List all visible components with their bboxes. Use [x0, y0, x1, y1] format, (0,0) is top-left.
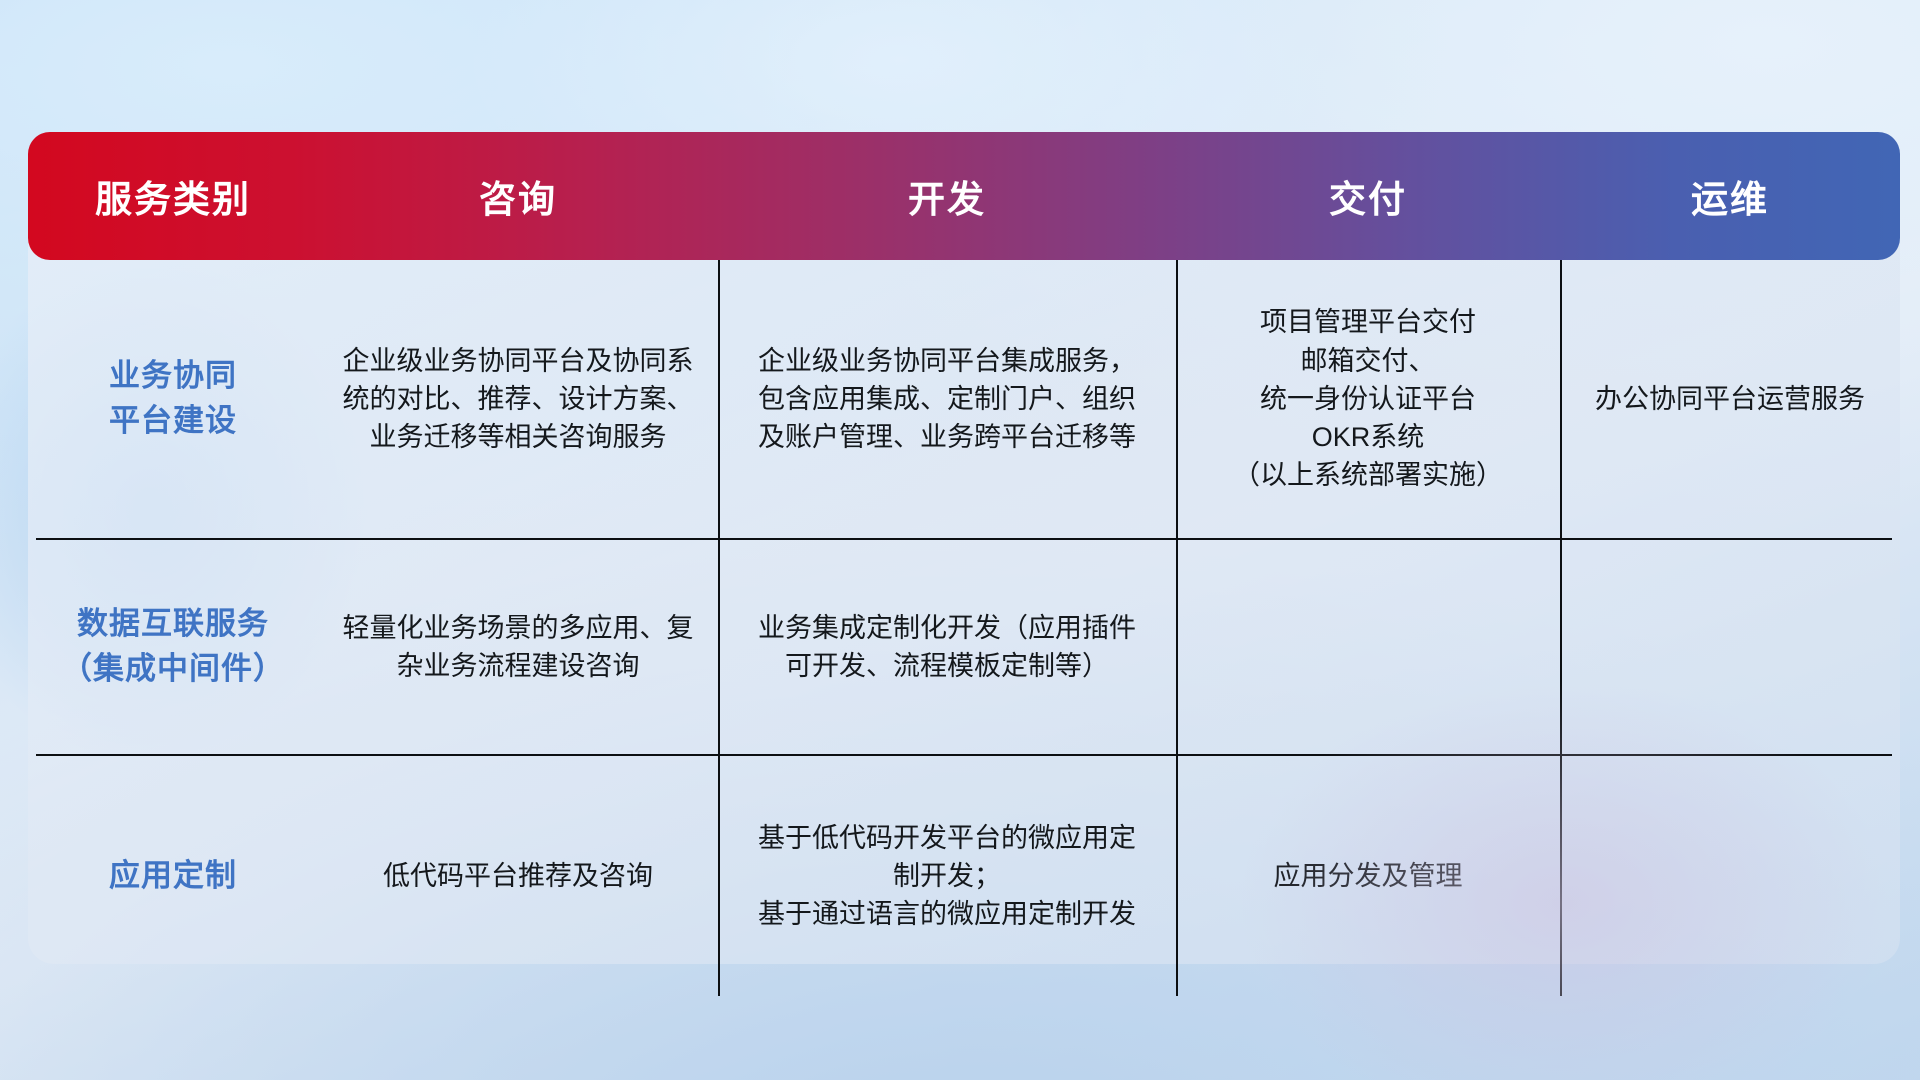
cell-development-row-3: 基于低代码开发平台的微应用定 制开发； 基于通过语言的微应用定制开发	[718, 756, 1176, 996]
row-label-data-interconnect: 数据互联服务 （集成中间件）	[28, 540, 318, 754]
table-row: 应用定制 低代码平台推荐及咨询 基于低代码开发平台的微应用定 制开发； 基于通过…	[28, 756, 1900, 996]
cell-operations-row-1: 办公协同平台运营服务	[1560, 260, 1900, 538]
slide-canvas: 服务类别 咨询 开发 交付 运维 业务协同 平台建设 企业级业务协同平台及协同系…	[0, 0, 1920, 1080]
table-row: 数据互联服务 （集成中间件） 轻量化业务场景的多应用、复 杂业务流程建设咨询 业…	[28, 540, 1900, 754]
cell-consulting-row-2: 轻量化业务场景的多应用、复 杂业务流程建设咨询	[318, 540, 718, 754]
cell-operations-row-2	[1560, 540, 1900, 754]
cell-delivery-row-3: 应用分发及管理	[1176, 756, 1560, 996]
row-label-app-customization: 应用定制	[28, 756, 318, 996]
column-divider-3	[1560, 260, 1562, 538]
header-cell-delivery: 交付	[1176, 132, 1560, 260]
column-divider-2	[1176, 540, 1178, 754]
cell-delivery-row-2	[1176, 540, 1560, 754]
column-divider-1	[718, 756, 720, 996]
column-divider-2	[1176, 260, 1178, 538]
column-divider-3	[1560, 756, 1562, 996]
cell-delivery-row-1: 项目管理平台交付 邮箱交付、 统一身份认证平台 OKR系统 （以上系统部署实施）	[1176, 260, 1560, 538]
cell-development-row-2: 业务集成定制化开发（应用插件 可开发、流程模板定制等）	[718, 540, 1176, 754]
column-divider-1	[718, 260, 720, 538]
header-cell-consulting: 咨询	[318, 132, 718, 260]
header-cell-operations: 运维	[1560, 132, 1900, 260]
table-row: 业务协同 平台建设 企业级业务协同平台及协同系 统的对比、推荐、设计方案、 业务…	[28, 260, 1900, 538]
table-header-row: 服务类别 咨询 开发 交付 运维	[28, 132, 1900, 260]
column-divider-2	[1176, 756, 1178, 996]
row-label-business-collaboration: 业务协同 平台建设	[28, 260, 318, 538]
header-cell-development: 开发	[718, 132, 1176, 260]
service-matrix-table: 服务类别 咨询 开发 交付 运维 业务协同 平台建设 企业级业务协同平台及协同系…	[28, 132, 1900, 996]
column-divider-3	[1560, 540, 1562, 754]
cell-consulting-row-3: 低代码平台推荐及咨询	[318, 756, 718, 996]
cell-development-row-1: 企业级业务协同平台集成服务， 包含应用集成、定制门户、组织 及账户管理、业务跨平…	[718, 260, 1176, 538]
cell-consulting-row-1: 企业级业务协同平台及协同系 统的对比、推荐、设计方案、 业务迁移等相关咨询服务	[318, 260, 718, 538]
column-divider-1	[718, 540, 720, 754]
header-cell-category: 服务类别	[28, 132, 318, 260]
cell-operations-row-3	[1560, 756, 1900, 996]
